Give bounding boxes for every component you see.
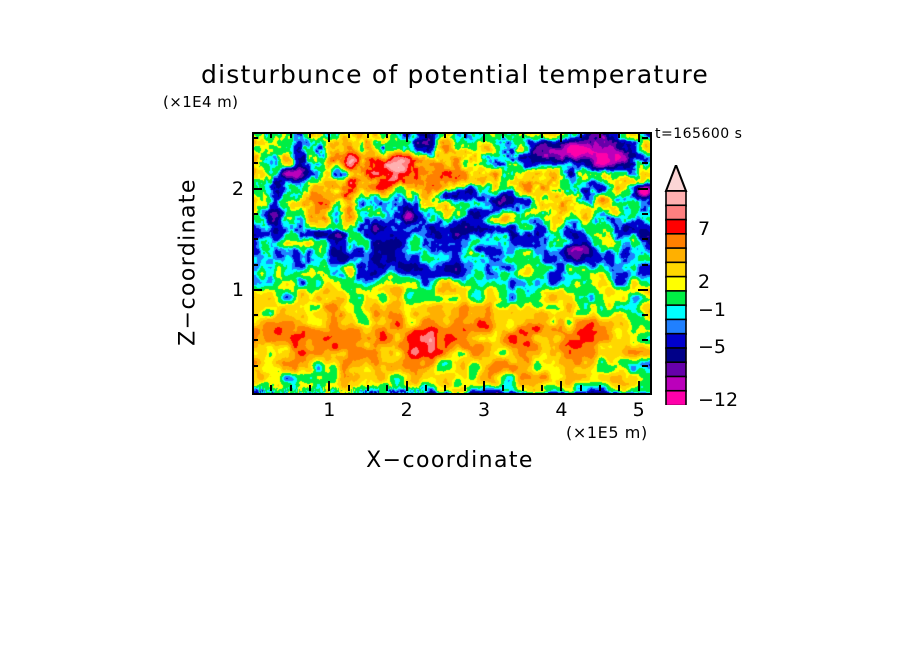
y-minor-tick-right [642,314,648,316]
x-tick-label: 2 [401,399,413,421]
y-minor-tick [252,365,258,367]
x-major-tick [328,381,330,391]
contour-plot-figure: disturbunce of potential temperature (×1… [0,0,904,654]
y-minor-tick [252,137,258,139]
x-tick-label: 1 [323,399,335,421]
colorbar-band [666,319,686,334]
y-minor-tick [252,213,258,215]
y-minor-tick-right [642,339,648,341]
x-minor-tick-top [541,132,543,138]
x-minor-tick [541,385,543,391]
temperature-field-heatmap [254,134,650,393]
x-major-tick-top [560,132,562,142]
colorbar-legend: 72−1−5−12 [660,165,756,405]
colorbar-band [666,291,686,306]
x-major-tick-top [328,132,330,142]
x-minor-tick [367,385,369,391]
colorbar-band [666,391,686,405]
x-minor-tick [348,385,350,391]
y-major-tick [252,188,262,190]
colorbar-band [666,205,686,220]
x-major-tick [406,381,408,391]
x-minor-tick-top [309,132,311,138]
x-tick-label: 3 [478,399,490,421]
plot-area [252,132,652,395]
x-minor-tick-top [290,132,292,138]
x-minor-tick-top [444,132,446,138]
y-tick-label: 1 [228,279,244,301]
x-minor-tick-top [599,132,601,138]
y-minor-tick [252,238,258,240]
x-tick-label: 4 [555,399,567,421]
page-title: disturbunce of potential temperature [170,60,740,89]
x-major-tick [560,381,562,391]
y-minor-tick [252,162,258,164]
x-minor-tick-top [386,132,388,138]
colorbar-band [666,334,686,349]
colorbar-band [666,305,686,320]
x-minor-tick [270,385,272,391]
x-minor-tick [425,385,427,391]
x-minor-tick [386,385,388,391]
y-axis-title: Z−coordinate [176,178,201,346]
x-minor-tick [290,385,292,391]
y-major-tick-right [638,289,648,291]
x-major-tick-top [406,132,408,142]
y-minor-tick [252,314,258,316]
y-minor-tick-right [642,162,648,164]
y-major-tick-right [638,188,648,190]
timestamp-label: t=165600 s [655,126,742,142]
x-minor-tick-top [425,132,427,138]
y-minor-tick-right [642,137,648,139]
colorbar-tick-label: 7 [698,218,710,240]
x-axis-title: X−coordinate [252,448,648,473]
y-minor-tick-right [642,365,648,367]
x-minor-tick-top [348,132,350,138]
y-major-tick [252,289,262,291]
x-minor-tick [599,385,601,391]
y-minor-tick-right [642,264,648,266]
colorbar-band [666,191,686,206]
x-axis-unit-label: (×1E5 m) [566,423,648,442]
x-minor-tick-top [270,132,272,138]
colorbar-tick-label: −1 [698,299,726,321]
z-axis-unit-label: (×1E4 m) [163,93,238,111]
colorbar-tick-label: −5 [698,336,726,358]
colorbar-tick-label: 2 [698,271,710,293]
colorbar-band [666,262,686,277]
colorbar-band [666,248,686,263]
x-major-tick [483,381,485,391]
x-minor-tick [502,385,504,391]
colorbar-swatches [660,165,700,405]
colorbar-band [666,348,686,363]
colorbar-band [666,376,686,391]
x-minor-tick-top [522,132,524,138]
x-minor-tick [309,385,311,391]
x-minor-tick [464,385,466,391]
colorbar-arrow-top [666,165,686,191]
x-major-tick-top [483,132,485,142]
x-major-tick-top [638,132,640,142]
x-tick-label: 5 [633,399,645,421]
x-minor-tick-top [580,132,582,138]
x-minor-tick [522,385,524,391]
y-tick-label: 2 [228,178,244,200]
x-minor-tick [580,385,582,391]
y-minor-tick-right [642,238,648,240]
colorbar-tick-label: −12 [698,389,738,411]
x-minor-tick-top [502,132,504,138]
x-minor-tick-top [464,132,466,138]
y-minor-tick [252,264,258,266]
x-minor-tick [618,385,620,391]
x-minor-tick [444,385,446,391]
colorbar-band [666,277,686,292]
y-minor-tick [252,339,258,341]
colorbar-band [666,220,686,235]
x-minor-tick-top [618,132,620,138]
x-major-tick [638,381,640,391]
x-minor-tick-top [367,132,369,138]
colorbar-band [666,362,686,377]
y-minor-tick-right [642,213,648,215]
colorbar-band [666,234,686,249]
